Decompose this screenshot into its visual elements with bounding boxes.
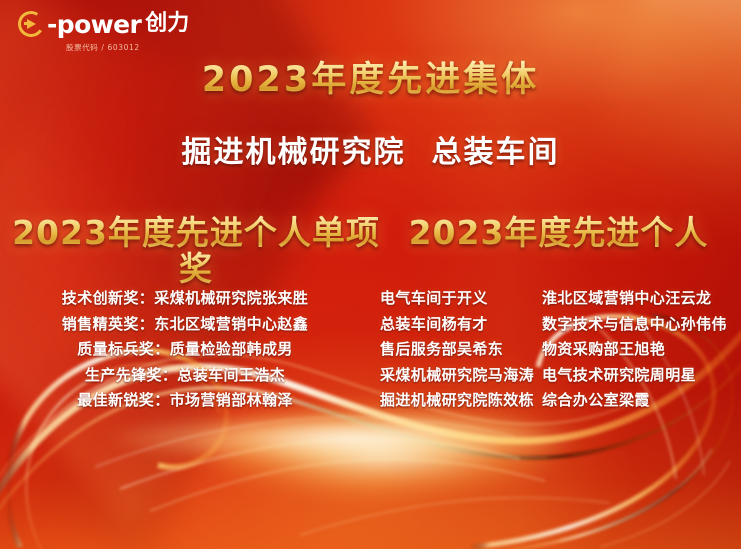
list-item: 电气车间于开义 淮北区域营销中心汪云龙 [380, 286, 741, 312]
collective-award-title: 2023年度先进集体 [0, 61, 741, 100]
stock-code-label: 股票代码 / 603012 [66, 42, 218, 53]
list-item: 总装车间杨有才 数字技术与信息中心孙伟伟 [380, 312, 741, 338]
individual-award-heading-text: 2023年度先进个人 [409, 213, 709, 252]
list-item: 售后服务部吴希东 物资采购部王旭艳 [380, 337, 741, 363]
list-item: 质量标兵奖：质量检验部韩成男 [0, 337, 370, 363]
person-name: 数字技术与信息中心孙伟伟 [542, 312, 741, 338]
list-item: 最佳新锐奖：市场营销部林翰泽 [0, 388, 370, 414]
special-award-heading: 2023年度先进个人单项奖 [0, 215, 392, 288]
company-logo[interactable]: -power 创力 股票代码 / 603012 [18, 11, 218, 53]
logo-wordmark-cn: 创力 [145, 13, 189, 35]
individual-award-list: 电气车间于开义 淮北区域营销中心汪云龙 总装车间杨有才 数字技术与信息中心孙伟伟… [370, 286, 741, 414]
special-award-list: 技术创新奖：采煤机械研究院张来胜 销售精英奖：东北区域营销中心赵鑫 质量标兵奖：… [0, 286, 370, 414]
list-item: 销售精英奖：东北区域营销中心赵鑫 [0, 312, 370, 338]
logo-wordmark: -power [47, 12, 141, 37]
swoosh-glow-streak [110, 415, 580, 461]
person-name: 电气车间于开义 [380, 286, 542, 312]
list-item: 掘进机械研究院陈效栋 综合办公室梁霞 [380, 388, 741, 414]
person-name: 采煤机械研究院马海涛 [380, 363, 542, 389]
e-power-circle-arrow-icon [18, 11, 44, 37]
collective-award-title-text: 2023年度先进集体 [202, 60, 539, 100]
person-name: 淮北区域营销中心汪云龙 [542, 286, 741, 312]
person-name: 售后服务部吴希东 [380, 337, 542, 363]
award-lists: 技术创新奖：采煤机械研究院张来胜 销售精英奖：东北区域营销中心赵鑫 质量标兵奖：… [0, 286, 741, 414]
list-item: 采煤机械研究院马海涛 电气技术研究院周明星 [380, 363, 741, 389]
collective-winners: 掘进机械研究院总装车间 [0, 136, 741, 169]
person-name: 物资采购部王旭艳 [542, 337, 741, 363]
person-name: 电气技术研究院周明星 [542, 363, 741, 389]
person-name: 总装车间杨有才 [380, 312, 542, 338]
collective-winner-1: 掘进机械研究院 [182, 135, 406, 170]
list-item: 技术创新奖：采煤机械研究院张来胜 [0, 286, 370, 312]
person-name: 综合办公室梁霞 [542, 388, 741, 414]
individual-award-heading: 2023年度先进个人 [392, 215, 741, 251]
person-name: 掘进机械研究院陈效栋 [380, 388, 542, 414]
logo-row: -power 创力 [18, 11, 218, 37]
award-poster: -power 创力 股票代码 / 603012 2023年度先进集体 掘进机械研… [0, 0, 741, 549]
collective-winner-2: 总装车间 [432, 135, 560, 170]
section-headings: 2023年度先进个人单项奖 2023年度先进个人 [0, 215, 741, 288]
special-award-heading-text: 2023年度先进个人单项奖 [12, 213, 380, 288]
list-item: 生产先锋奖：总装车间王浩杰 [0, 363, 370, 389]
